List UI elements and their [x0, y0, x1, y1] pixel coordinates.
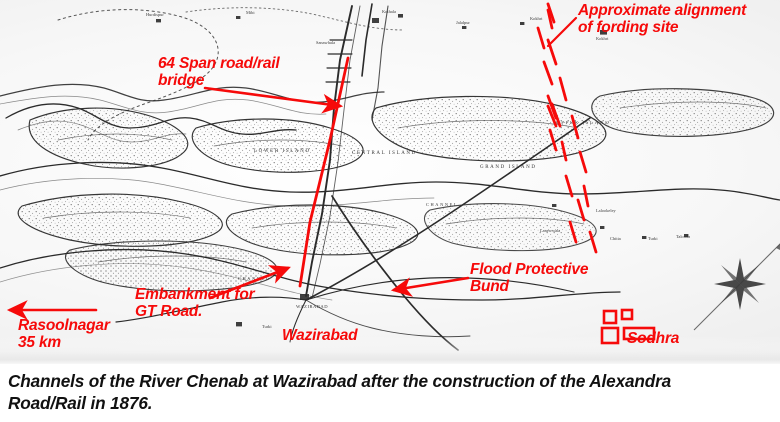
svg-text:UPPER ISLAND: UPPER ISLAND [556, 121, 610, 126]
svg-text:Sanawhala: Sanawhala [316, 40, 335, 45]
svg-text:CENTRAL ISLAND: CENTRAL ISLAND [352, 151, 417, 156]
figure-root: Hurdispur Mibi Kothala Jalalpur Kokhri K… [0, 0, 780, 422]
svg-text:Chitta: Chitta [610, 236, 621, 241]
svg-text:LOWER ISLAND: LOWER ISLAND [254, 149, 311, 154]
svg-text:Mibi: Mibi [246, 10, 255, 15]
svg-text:Kokhri: Kokhri [530, 16, 543, 21]
svg-text:Jalalpur: Jalalpur [456, 20, 470, 25]
annotation-rasoolnagar-label: Rasoolnagar 35 km [18, 317, 110, 352]
annotation-sodhra-label: Sodhra [627, 330, 679, 347]
svg-text:Kokhri: Kokhri [596, 36, 609, 41]
bridge-pointer-arrow [205, 88, 340, 106]
historical-map-image: Hurdispur Mibi Kothala Jalalpur Kokhri K… [0, 0, 780, 364]
map-terrain [0, 4, 780, 350]
caption-band: Channels of the River Chenab at Waziraba… [0, 364, 780, 422]
svg-text:Lanewwala: Lanewwala [540, 228, 560, 233]
svg-text:Kothala: Kothala [382, 9, 396, 14]
annotation-flood-bund-label: Flood Protective Bund [470, 261, 588, 296]
map-linework: Hurdispur Mibi Kothala Jalalpur Kokhri K… [0, 0, 780, 364]
annotation-wazirabad-label: Wazirabad [282, 327, 357, 344]
svg-text:CHANNEL: CHANNEL [426, 202, 458, 207]
annotation-bridge-label: 64 Span road/rail bridge [158, 55, 280, 90]
svg-text:Talonda: Talonda [676, 234, 690, 239]
svg-text:Hurdispur: Hurdispur [146, 12, 164, 17]
annotation-embankment-label: Embankment for GT Road. [135, 286, 255, 321]
annotation-fording-site-label: Approximate alignment of fording site [578, 2, 746, 37]
compass-rose-icon [694, 238, 780, 330]
svg-text:Lalookeley: Lalookeley [596, 208, 617, 213]
svg-text:WAZIRABAD: WAZIRABAD [296, 304, 328, 309]
svg-text:Turki: Turki [648, 236, 658, 241]
figure-caption: Channels of the River Chenab at Waziraba… [8, 370, 772, 415]
svg-text:GRAND ISLAND: GRAND ISLAND [480, 165, 537, 170]
svg-text:Turki: Turki [262, 324, 272, 329]
ford-pointer-line [548, 18, 576, 46]
